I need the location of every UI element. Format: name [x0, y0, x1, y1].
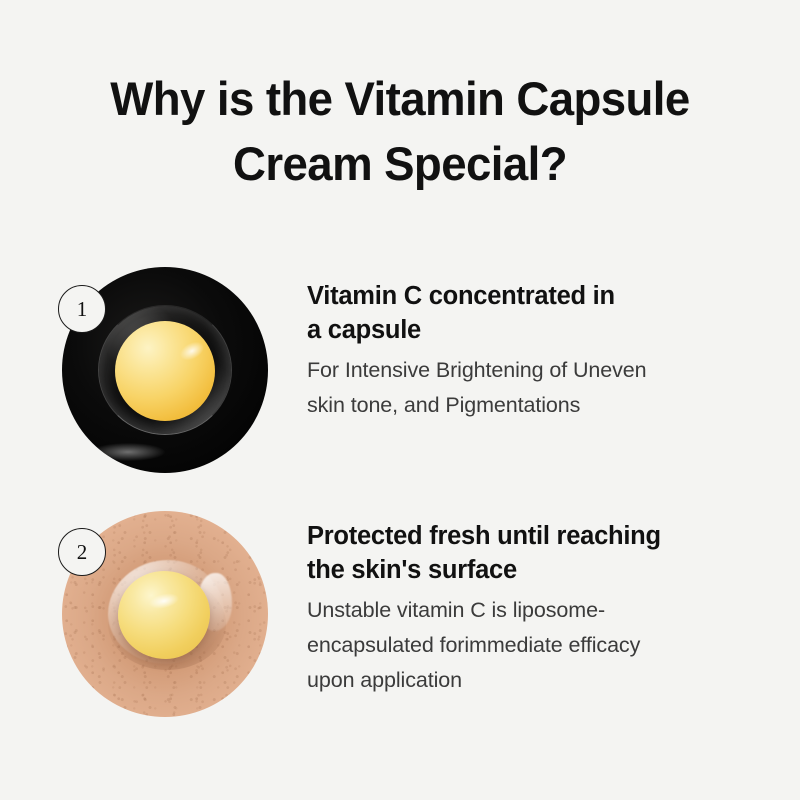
feature-2-description-line-3: upon application	[307, 663, 757, 698]
feature-1-media: 1	[62, 267, 268, 473]
step-number-badge-1: 1	[58, 285, 106, 333]
step-number-label-1: 1	[77, 299, 88, 320]
feature-2-description-line-2: encapsulated forimmediate efficacy	[307, 628, 757, 663]
capsule-highlight-glint	[177, 338, 207, 364]
droplet-highlight-glint	[148, 591, 180, 611]
feature-1-description-line-2: skin tone, and Pigmentations	[307, 388, 757, 423]
page-title-line-1: Why is the Vitamin Capsule	[12, 66, 788, 131]
capsule-droplet-graphic	[118, 571, 210, 659]
feature-2-description-line-1: Unstable vitamin C is liposome-	[307, 593, 757, 628]
feature-1-description-line-1: For Intensive Brightening of Uneven	[307, 353, 757, 388]
feature-1-title: Vitamin C concentrated in a capsule	[307, 279, 757, 347]
feature-2-title-line-1: Protected fresh until reaching	[307, 519, 757, 553]
capsule-bottom-sheen	[91, 443, 165, 461]
step-number-label-2: 2	[77, 542, 88, 563]
feature-1-copy: Vitamin C concentrated in a capsule For …	[307, 279, 757, 423]
step-number-badge-2: 2	[58, 528, 106, 576]
feature-2-copy: Protected fresh until reaching the skin'…	[307, 519, 757, 698]
feature-2-description: Unstable vitamin C is liposome- encapsul…	[307, 593, 757, 698]
feature-1-description: For Intensive Brightening of Uneven skin…	[307, 353, 757, 423]
feature-1-title-line-2: a capsule	[307, 313, 757, 347]
feature-1-title-line-1: Vitamin C concentrated in	[307, 279, 757, 313]
page-title: Why is the Vitamin Capsule Cream Special…	[0, 66, 800, 196]
page-title-line-2: Cream Special?	[12, 131, 788, 196]
feature-2-media: 2	[62, 511, 268, 717]
promo-page: Why is the Vitamin Capsule Cream Special…	[0, 0, 800, 800]
feature-2-title-line-2: the skin's surface	[307, 553, 757, 587]
feature-2-title: Protected fresh until reaching the skin'…	[307, 519, 757, 587]
capsule-core-graphic	[115, 321, 215, 421]
